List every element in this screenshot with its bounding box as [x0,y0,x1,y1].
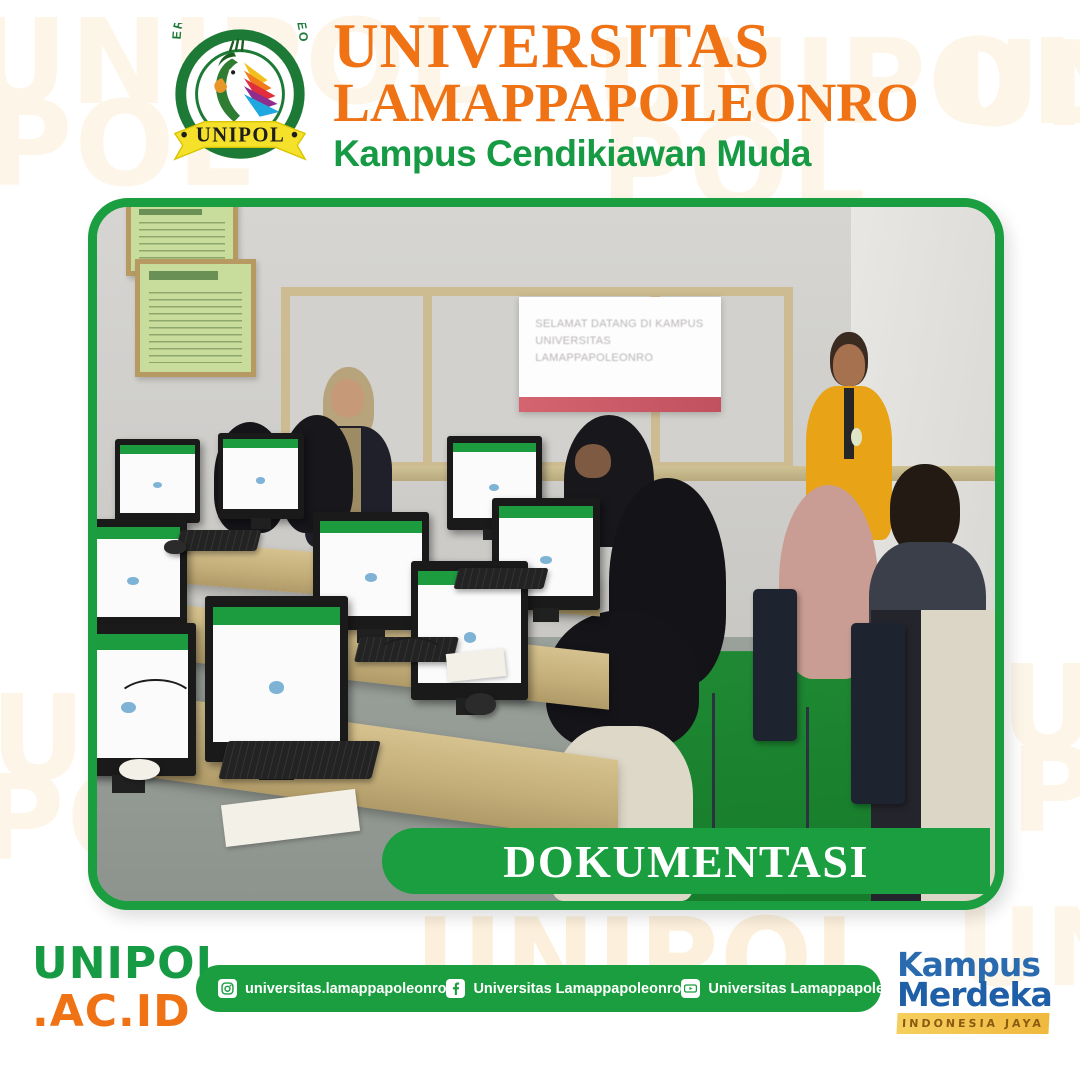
header: UNIVERSITAS LAMAPPAPOLEONRO • UNIPOL • U… [0,0,1080,196]
social-label-facebook: Universitas Lamappapoleonro [473,981,681,997]
social-media-bar: universitas.lamappapoleonro Universitas … [196,965,881,1012]
cable [115,679,196,728]
site-url-line2: .AC.ID [32,990,225,1034]
watermark-text: UN [1000,660,1080,757]
cable [375,637,447,679]
university-logo: UNIVERSITAS LAMAPPAPOLEONRO • UNIPOL • [161,23,319,175]
keyboard [218,741,380,779]
kampus-merdeka-ribbon: INDONESIA JAYA [896,1013,1049,1034]
computer-mouse [164,540,186,554]
computer-monitor [97,519,187,630]
computer-monitor [115,439,200,522]
chair [851,623,905,803]
university-tagline: Kampus Cendikiawan Muda [333,133,919,175]
keyboard [454,568,549,589]
wall-poster [135,259,256,377]
kampus-merdeka-line2: Merdeka [897,980,1052,1010]
keyboard [175,530,261,551]
svg-text:• UNIPOL •: • UNIPOL • [181,124,300,146]
chair-leg [712,693,715,839]
kampus-merdeka-ribbon-text: INDONESIA JAYA [902,1017,1045,1030]
university-title-line1: UNIVERSITAS [333,17,919,76]
parrot-emblem-icon: UNIVERSITAS LAMAPPAPOLEONRO • UNIPOL • [161,23,319,175]
computer-monitor [205,596,349,763]
documentation-banner-label: DOKUMENTASI [503,835,869,888]
classroom-photo: SELAMAT DATANG DI KAMPUS UNIVERSITAS LAM… [97,207,995,901]
computer-mouse [465,693,496,715]
site-url-line1: UNIPOL [32,942,225,986]
footer: UNIPOL .AC.ID universitas.lamappapoleonr… [0,930,1080,1080]
chair [753,589,798,742]
computer-monitor [218,433,303,520]
facebook-icon [446,979,465,998]
social-item-instagram[interactable]: universitas.lamappapoleonro [218,979,446,998]
social-item-facebook[interactable]: Universitas Lamappapoleonro [446,979,681,998]
university-title-line2: LAMAPPAPOLEONRO [333,75,919,130]
social-label-instagram: universitas.lamappapoleonro [245,981,446,997]
watermark-text: PO [1010,742,1080,839]
projector-screen: SELAMAT DATANG DI KAMPUS UNIVERSITAS LAM… [519,297,721,412]
documentation-photo-card: SELAMAT DATANG DI KAMPUS UNIVERSITAS LAM… [88,198,1004,910]
kampus-merdeka-logo: Kampus Merdeka INDONESIA JAYA [897,950,1052,1036]
instagram-icon [218,979,237,998]
projector-screen-text: SELAMAT DATANG DI KAMPUS UNIVERSITAS LAM… [535,316,709,367]
paper-disc [119,759,159,780]
social-item-youtube[interactable]: Universitas Lamappapoleonro [681,979,916,998]
documentation-banner: DOKUMENTASI [382,828,990,894]
brand-text-block: UNIVERSITAS LAMAPPAPOLEONRO Kampus Cendi… [333,17,919,174]
social-label-youtube: Universitas Lamappapoleonro [708,981,916,997]
youtube-icon [681,979,700,998]
